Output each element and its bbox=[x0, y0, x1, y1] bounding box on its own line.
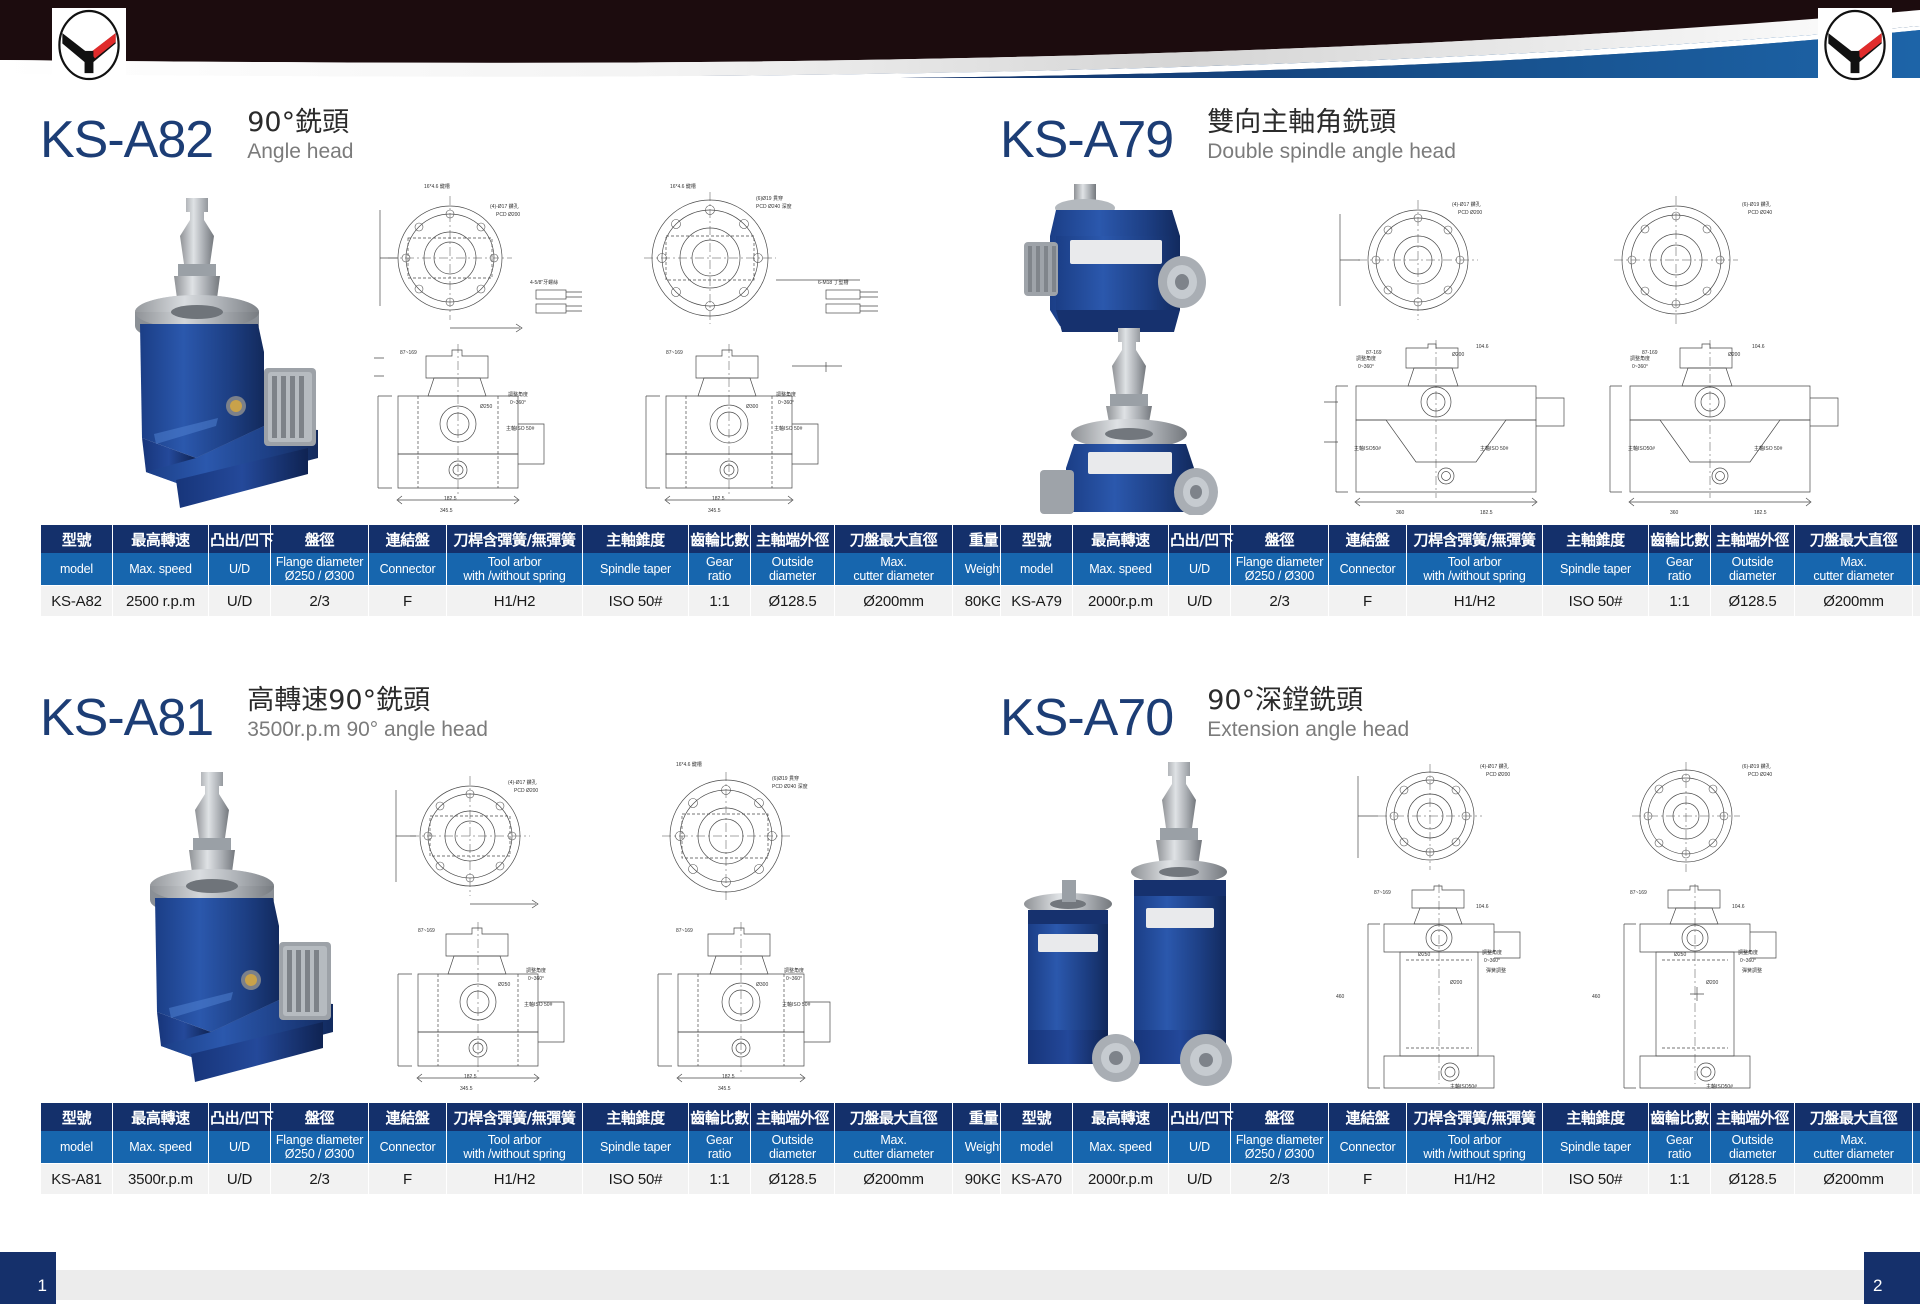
svg-text:104.6: 104.6 bbox=[1476, 344, 1489, 350]
cell-max-cutter-diameter: Ø200mm bbox=[835, 586, 953, 617]
svg-text:0~360°: 0~360° bbox=[778, 400, 794, 406]
table-header-row-cn: 型號 最高轉速 凸出/凹下 盤徑 連結盤 刀桿含彈簧/無彈簧 主軸錐度 齒輪比數… bbox=[41, 525, 1015, 553]
product-title-block: KS-A79 雙向主軸角銑頭 Double spindle angle head bbox=[1000, 92, 1905, 166]
svg-text:主軸ISO 50#: 主軸ISO 50# bbox=[506, 425, 535, 432]
svg-text:16*4.6 鍵槽: 16*4.6 鍵槽 bbox=[424, 183, 450, 190]
svg-text:調整角度: 調整角度 bbox=[508, 391, 528, 398]
th-cn-outside-diameter: 主軸端外徑 bbox=[1711, 525, 1795, 553]
th-cn-spindle-taper: 主軸錐度 bbox=[583, 1103, 689, 1131]
th-cn-tool-arbor: 刀桿含彈簧/無彈簧 bbox=[447, 525, 583, 553]
cell-flange-diameter: 2/3 bbox=[271, 1164, 369, 1195]
cell-max-speed: 3500r.p.m bbox=[113, 1164, 209, 1195]
th-en-flange-diameter: Flange diameterØ250 / Ø300 bbox=[1231, 1131, 1329, 1164]
page-title: KS-A82 bbox=[40, 114, 213, 166]
svg-text:(6)Ø19 貫穿: (6)Ø19 貫穿 bbox=[756, 195, 783, 202]
th-en-flange-diameter: Flange diameterØ250 / Ø300 bbox=[271, 1131, 369, 1164]
svg-text:104.6: 104.6 bbox=[1752, 344, 1765, 350]
th-cn-spindle-taper: 主軸錐度 bbox=[1543, 1103, 1649, 1131]
product-title-en: Extension angle head bbox=[1207, 718, 1409, 742]
svg-text:104.6: 104.6 bbox=[1476, 904, 1489, 910]
th-en-max-speed: Max. speed bbox=[113, 553, 209, 586]
th-en-weight: Weight bbox=[1913, 1131, 1920, 1164]
product-title-en: Angle head bbox=[247, 140, 353, 164]
cell-model: KS-A81 bbox=[41, 1164, 113, 1195]
product-title-en: Double spindle angle head bbox=[1207, 140, 1456, 164]
svg-text:16*4.6 鍵槽: 16*4.6 鍵槽 bbox=[670, 183, 696, 190]
th-cn-outside-diameter: 主軸端外徑 bbox=[751, 525, 835, 553]
th-cn-ud: 凸出/凹下 bbox=[209, 1103, 271, 1131]
svg-text:PCD Ø200: PCD Ø200 bbox=[1486, 772, 1510, 778]
th-en-spindle-taper: Spindle taper bbox=[583, 1131, 689, 1164]
table-header-row-en: model Max. speed U/D Flange diameterØ250… bbox=[41, 1131, 1015, 1164]
cell-gear-ratio: 1:1 bbox=[1649, 586, 1711, 617]
th-cn-flange-diameter: 盤徑 bbox=[271, 1103, 369, 1131]
th-en-ud: U/D bbox=[209, 1131, 271, 1164]
svg-text:主軸ISO50#: 主軸ISO50# bbox=[1706, 1083, 1733, 1090]
th-cn-connector: 連結盤 bbox=[369, 1103, 447, 1131]
cell-gear-ratio: 1:1 bbox=[1649, 1164, 1711, 1195]
technical-drawing-front-views: (4)-Ø17 鑽孔PCD Ø200 (6)-Ø19 鑽孔PCD Ø240 87… bbox=[1300, 758, 1900, 1093]
cell-spindle-taper: ISO 50# bbox=[1543, 586, 1649, 617]
svg-text:調整角度: 調整角度 bbox=[1482, 949, 1502, 956]
svg-text:0~360°: 0~360° bbox=[510, 400, 526, 406]
th-cn-outside-diameter: 主軸端外徑 bbox=[1711, 1103, 1795, 1131]
th-en-gear-ratio: Gearratio bbox=[1649, 553, 1711, 586]
th-cn-tool-arbor: 刀桿含彈簧/無彈簧 bbox=[447, 1103, 583, 1131]
th-en-outside-diameter: Outsidediameter bbox=[751, 553, 835, 586]
svg-text:調整角度: 調整角度 bbox=[1356, 355, 1376, 362]
svg-text:345.5: 345.5 bbox=[718, 1086, 731, 1092]
th-cn-model: 型號 bbox=[41, 1103, 113, 1131]
svg-text:PCD Ø240 深度: PCD Ø240 深度 bbox=[756, 203, 792, 210]
th-cn-max-cutter-diameter: 刀盤最大直徑 bbox=[1795, 1103, 1913, 1131]
svg-text:主軸ISO 50#: 主軸ISO 50# bbox=[524, 1001, 553, 1008]
svg-text:182.5: 182.5 bbox=[444, 496, 457, 502]
cell-connector: F bbox=[1329, 586, 1407, 617]
th-en-tool-arbor: Tool arborwith /without spring bbox=[1407, 1131, 1543, 1164]
th-cn-ud: 凸出/凹下 bbox=[1169, 525, 1231, 553]
spec-table-ks-a79: 型號 最高轉速 凸出/凹下 盤徑 連結盤 刀桿含彈簧/無彈簧 主軸錐度 齒輪比數… bbox=[1000, 525, 1920, 616]
technical-drawing-front-views: 16*4.6 鍵槽(4)-Ø17 鑽孔 PCD Ø2004-5/8"牙螺絲 16… bbox=[340, 180, 940, 515]
technical-drawing-front-views: (4)-Ø17 鑽孔PCD Ø200 (6)-Ø19 鑽孔PCD Ø240 87… bbox=[1300, 180, 1900, 515]
th-en-max-cutter-diameter: Max.cutter diameter bbox=[835, 1131, 953, 1164]
svg-text:Ø200: Ø200 bbox=[1452, 352, 1464, 358]
cell-max-speed: 2500 r.p.m bbox=[113, 586, 209, 617]
th-en-outside-diameter: Outsidediameter bbox=[1711, 553, 1795, 586]
svg-text:調整角度: 調整角度 bbox=[1738, 949, 1758, 956]
svg-text:PCD Ø200: PCD Ø200 bbox=[496, 212, 520, 218]
svg-text:4-5/8"牙螺絲: 4-5/8"牙螺絲 bbox=[530, 279, 558, 286]
th-cn-gear-ratio: 齒輪比數 bbox=[689, 1103, 751, 1131]
svg-text:(6)-Ø19 鑽孔: (6)-Ø19 鑽孔 bbox=[1742, 763, 1771, 770]
cell-max-speed: 2000r.p.m bbox=[1073, 1164, 1169, 1195]
th-en-gear-ratio: Gearratio bbox=[689, 553, 751, 586]
th-en-ud: U/D bbox=[1169, 553, 1231, 586]
th-en-connector: Connector bbox=[1329, 553, 1407, 586]
th-en-model: model bbox=[1001, 1131, 1073, 1164]
th-cn-ud: 凸出/凹下 bbox=[1169, 1103, 1231, 1131]
svg-text:(6)-Ø19 鑽孔: (6)-Ø19 鑽孔 bbox=[1742, 201, 1771, 208]
page-number-right-value: 2 bbox=[1873, 1276, 1882, 1296]
table-header-row-en: model Max. speed U/D Flange diameterØ250… bbox=[1001, 1131, 1920, 1164]
svg-text:182.5: 182.5 bbox=[1480, 510, 1493, 515]
product-photo bbox=[1010, 758, 1300, 1093]
th-cn-flange-diameter: 盤徑 bbox=[1231, 525, 1329, 553]
svg-text:彈簧調整: 彈簧調整 bbox=[1486, 967, 1506, 974]
th-en-model: model bbox=[1001, 553, 1073, 586]
spec-table-ks-a81: 型號 最高轉速 凸出/凹下 盤徑 連結盤 刀桿含彈簧/無彈簧 主軸錐度 齒輪比數… bbox=[40, 1103, 1015, 1194]
svg-text:345.5: 345.5 bbox=[440, 508, 453, 514]
th-cn-ud: 凸出/凹下 bbox=[209, 525, 271, 553]
th-cn-max-cutter-diameter: 刀盤最大直徑 bbox=[1795, 525, 1913, 553]
cell-outside-diameter: Ø128.5 bbox=[751, 586, 835, 617]
th-cn-gear-ratio: 齒輪比數 bbox=[1649, 525, 1711, 553]
svg-text:Ø200: Ø200 bbox=[1450, 980, 1462, 986]
page-number-left: 1 bbox=[0, 1252, 56, 1304]
cell-flange-diameter: 2/3 bbox=[271, 586, 369, 617]
cell-model: KS-A79 bbox=[1001, 586, 1073, 617]
table-row: KS-A79 2000r.p.m U/D 2/3 F H1/H2 ISO 50#… bbox=[1001, 586, 1920, 617]
svg-text:(4)-Ø17 鑽孔: (4)-Ø17 鑽孔 bbox=[1452, 201, 1481, 208]
svg-text:360: 360 bbox=[1670, 510, 1679, 515]
cell-spindle-taper: ISO 50# bbox=[1543, 1164, 1649, 1195]
cell-tool-arbor: H1/H2 bbox=[447, 586, 583, 617]
svg-text:Ø250: Ø250 bbox=[1418, 952, 1430, 958]
svg-text:87~169: 87~169 bbox=[666, 350, 683, 356]
th-en-max-speed: Max. speed bbox=[113, 1131, 209, 1164]
cell-outside-diameter: Ø128.5 bbox=[1711, 586, 1795, 617]
cell-ud: U/D bbox=[209, 586, 271, 617]
svg-text:360: 360 bbox=[1396, 510, 1405, 515]
cell-max-cutter-diameter: Ø200mm bbox=[1795, 1164, 1913, 1195]
cell-max-cutter-diameter: Ø200mm bbox=[1795, 586, 1913, 617]
table-header-row-en: model Max. speed U/D Flange diameterØ250… bbox=[1001, 553, 1920, 586]
product-title-en: 3500r.p.m 90° angle head bbox=[247, 718, 488, 742]
svg-text:(4)-Ø17 鑽孔: (4)-Ø17 鑽孔 bbox=[1480, 763, 1509, 770]
cell-gear-ratio: 1:1 bbox=[689, 586, 751, 617]
th-en-max-cutter-diameter: Max.cutter diameter bbox=[1795, 1131, 1913, 1164]
svg-text:調整角度: 調整角度 bbox=[526, 967, 546, 974]
table-row: KS-A81 3500r.p.m U/D 2/3 F H1/H2 ISO 50#… bbox=[41, 1164, 1015, 1195]
product-title-block: KS-A82 90°銑頭 Angle head bbox=[40, 92, 945, 166]
th-en-connector: Connector bbox=[369, 1131, 447, 1164]
svg-text:主軸ISO 50#: 主軸ISO 50# bbox=[782, 1001, 811, 1008]
cell-tool-arbor: H1/H2 bbox=[1407, 586, 1543, 617]
table-header-row-cn: 型號 最高轉速 凸出/凹下 盤徑 連結盤 刀桿含彈簧/無彈簧 主軸錐度 齒輪比數… bbox=[1001, 525, 1920, 553]
svg-text:(4)-Ø17 鑽孔: (4)-Ø17 鑽孔 bbox=[508, 779, 537, 786]
product-title-block: KS-A70 90°深鏜銑頭 Extension angle head bbox=[1000, 670, 1905, 744]
table-header-row-cn: 型號 最高轉速 凸出/凹下 盤徑 連結盤 刀桿含彈簧/無彈簧 主軸錐度 齒輪比數… bbox=[1001, 1103, 1920, 1131]
product-title-block: KS-A81 高轉速90°銑頭 3500r.p.m 90° angle head bbox=[40, 670, 945, 744]
company-logo-left bbox=[52, 8, 126, 82]
th-en-max-speed: Max. speed bbox=[1073, 1131, 1169, 1164]
cell-model: KS-A82 bbox=[41, 586, 113, 617]
th-cn-tool-arbor: 刀桿含彈簧/無彈簧 bbox=[1407, 1103, 1543, 1131]
company-logo-right bbox=[1818, 8, 1892, 82]
cell-outside-diameter: Ø128.5 bbox=[1711, 1164, 1795, 1195]
th-cn-weight: 重量 bbox=[1913, 525, 1920, 553]
spec-table-ks-a70: 型號 最高轉速 凸出/凹下 盤徑 連結盤 刀桿含彈簧/無彈簧 主軸錐度 齒輪比數… bbox=[1000, 1103, 1920, 1194]
svg-text:PCD Ø240: PCD Ø240 bbox=[1748, 772, 1772, 778]
product-title-cn: 90°深鏜銑頭 bbox=[1207, 686, 1409, 716]
page-title: KS-A81 bbox=[40, 692, 213, 744]
svg-text:主軸ISO 50#: 主軸ISO 50# bbox=[1480, 445, 1509, 452]
svg-text:460: 460 bbox=[1592, 994, 1601, 1000]
th-cn-gear-ratio: 齒輪比數 bbox=[689, 525, 751, 553]
th-cn-spindle-taper: 主軸錐度 bbox=[1543, 525, 1649, 553]
svg-text:87~169: 87~169 bbox=[1630, 890, 1647, 896]
th-en-max-cutter-diameter: Max.cutter diameter bbox=[1795, 553, 1913, 586]
svg-text:調整角度: 調整角度 bbox=[776, 391, 796, 398]
svg-text:345.5: 345.5 bbox=[460, 1086, 473, 1092]
svg-text:PCD Ø200: PCD Ø200 bbox=[1458, 210, 1482, 216]
th-en-spindle-taper: Spindle taper bbox=[1543, 1131, 1649, 1164]
svg-text:0~360°: 0~360° bbox=[1484, 958, 1500, 964]
th-cn-outside-diameter: 主軸端外徑 bbox=[751, 1103, 835, 1131]
th-cn-max-speed: 最高轉速 bbox=[1073, 525, 1169, 553]
product-panel-ks-a70: KS-A70 90°深鏜銑頭 Extension angle head bbox=[1000, 670, 1905, 1194]
cell-max-cutter-diameter: Ø200mm bbox=[835, 1164, 953, 1195]
footer-bar bbox=[0, 1270, 1920, 1300]
svg-text:182.5: 182.5 bbox=[1754, 510, 1767, 515]
cell-outside-diameter: Ø128.5 bbox=[751, 1164, 835, 1195]
th-cn-weight: 重量 bbox=[1913, 1103, 1920, 1131]
th-en-tool-arbor: Tool arborwith /without spring bbox=[447, 1131, 583, 1164]
svg-text:16*4.6 鍵槽: 16*4.6 鍵槽 bbox=[676, 761, 702, 768]
svg-text:0~360°: 0~360° bbox=[1632, 364, 1648, 370]
th-en-outside-diameter: Outsidediameter bbox=[751, 1131, 835, 1164]
th-en-tool-arbor: Tool arborwith /without spring bbox=[447, 553, 583, 586]
product-title-cn: 90°銑頭 bbox=[247, 108, 353, 138]
th-cn-model: 型號 bbox=[1001, 1103, 1073, 1131]
cell-spindle-taper: ISO 50# bbox=[583, 1164, 689, 1195]
th-cn-gear-ratio: 齒輪比數 bbox=[1649, 1103, 1711, 1131]
cell-max-speed: 2000r.p.m bbox=[1073, 586, 1169, 617]
svg-text:182.5: 182.5 bbox=[722, 1074, 735, 1080]
cell-flange-diameter: 2/3 bbox=[1231, 586, 1329, 617]
svg-text:460: 460 bbox=[1336, 994, 1345, 1000]
th-en-max-cutter-diameter: Max.cutter diameter bbox=[835, 553, 953, 586]
th-en-max-speed: Max. speed bbox=[1073, 553, 1169, 586]
svg-text:182.5: 182.5 bbox=[712, 496, 725, 502]
page-footer: 1 2 bbox=[0, 1252, 1920, 1311]
table-header-row-cn: 型號 最高轉速 凸出/凹下 盤徑 連結盤 刀桿含彈簧/無彈簧 主軸錐度 齒輪比數… bbox=[41, 1103, 1015, 1131]
svg-text:彈簧調整: 彈簧調整 bbox=[1742, 967, 1762, 974]
page-number-left-value: 1 bbox=[38, 1276, 47, 1296]
th-en-flange-diameter: Flange diameterØ250 / Ø300 bbox=[271, 553, 369, 586]
th-cn-max-speed: 最高轉速 bbox=[1073, 1103, 1169, 1131]
th-en-flange-diameter: Flange diameterØ250 / Ø300 bbox=[1231, 553, 1329, 586]
page-number-right: 2 bbox=[1864, 1252, 1920, 1304]
th-en-ud: U/D bbox=[209, 553, 271, 586]
svg-text:PCD Ø200: PCD Ø200 bbox=[514, 788, 538, 794]
svg-text:調整角度: 調整角度 bbox=[1630, 355, 1650, 362]
product-title-cn: 高轉速90°銑頭 bbox=[247, 686, 488, 716]
svg-text:87~169: 87~169 bbox=[676, 928, 693, 934]
svg-text:PCD Ø240 深度: PCD Ø240 深度 bbox=[772, 783, 808, 790]
product-artwork-ks-a82: 16*4.6 鍵槽(4)-Ø17 鑽孔 PCD Ø2004-5/8"牙螺絲 16… bbox=[40, 180, 945, 515]
product-photo bbox=[95, 766, 355, 1096]
svg-text:87~169: 87~169 bbox=[418, 928, 435, 934]
th-cn-max-speed: 最高轉速 bbox=[113, 525, 209, 553]
svg-text:PCD Ø240: PCD Ø240 bbox=[1748, 210, 1772, 216]
cell-connector: F bbox=[1329, 1164, 1407, 1195]
th-cn-max-cutter-diameter: 刀盤最大直徑 bbox=[835, 1103, 953, 1131]
cell-weight: 105KG bbox=[1913, 1164, 1920, 1195]
th-cn-connector: 連結盤 bbox=[1329, 525, 1407, 553]
svg-text:主軸ISO50#: 主軸ISO50# bbox=[1450, 1083, 1477, 1090]
table-row: KS-A82 2500 r.p.m U/D 2/3 F H1/H2 ISO 50… bbox=[41, 586, 1015, 617]
cell-flange-diameter: 2/3 bbox=[1231, 1164, 1329, 1195]
th-en-weight: Weight bbox=[1913, 553, 1920, 586]
svg-text:Ø250: Ø250 bbox=[1674, 952, 1686, 958]
cell-model: KS-A70 bbox=[1001, 1164, 1073, 1195]
th-cn-max-cutter-diameter: 刀盤最大直徑 bbox=[835, 525, 953, 553]
svg-text:主軸ISO 50#: 主軸ISO 50# bbox=[774, 425, 803, 432]
th-cn-model: 型號 bbox=[1001, 525, 1073, 553]
svg-text:Ø250: Ø250 bbox=[480, 404, 492, 410]
product-panel-ks-a81: KS-A81 高轉速90°銑頭 3500r.p.m 90° angle head bbox=[40, 670, 945, 1194]
th-cn-flange-diameter: 盤徑 bbox=[271, 525, 369, 553]
th-en-connector: Connector bbox=[369, 553, 447, 586]
cell-spindle-taper: ISO 50# bbox=[583, 586, 689, 617]
th-cn-tool-arbor: 刀桿含彈簧/無彈簧 bbox=[1407, 525, 1543, 553]
cell-tool-arbor: H1/H2 bbox=[447, 1164, 583, 1195]
svg-text:主軸ISO50#: 主軸ISO50# bbox=[1354, 445, 1381, 452]
cell-connector: F bbox=[369, 1164, 447, 1195]
th-en-outside-diameter: Outsidediameter bbox=[1711, 1131, 1795, 1164]
th-en-connector: Connector bbox=[1329, 1131, 1407, 1164]
cell-weight: 100KG bbox=[1913, 586, 1920, 617]
cell-gear-ratio: 1:1 bbox=[689, 1164, 751, 1195]
svg-text:Ø200: Ø200 bbox=[1728, 352, 1740, 358]
product-artwork-ks-a81: (4)-Ø17 鑽孔PCD Ø200 16*4.6 鍵槽(6)Ø19 貫穿 PC… bbox=[40, 758, 945, 1093]
cell-connector: F bbox=[369, 586, 447, 617]
page-header-banner bbox=[0, 0, 1920, 92]
technical-drawing-front-views: (4)-Ø17 鑽孔PCD Ø200 16*4.6 鍵槽(6)Ø19 貫穿 PC… bbox=[360, 758, 940, 1093]
th-en-ud: U/D bbox=[1169, 1131, 1231, 1164]
th-en-model: model bbox=[41, 553, 113, 586]
page-title: KS-A79 bbox=[1000, 114, 1173, 166]
th-cn-connector: 連結盤 bbox=[369, 525, 447, 553]
svg-text:87~169: 87~169 bbox=[400, 350, 417, 356]
catalog-sheet: KS-A82 90°銑頭 Angle head bbox=[0, 92, 1920, 1252]
svg-text:(6)Ø19 貫穿: (6)Ø19 貫穿 bbox=[772, 775, 799, 782]
svg-text:0~360°: 0~360° bbox=[1358, 364, 1374, 370]
cell-tool-arbor: H1/H2 bbox=[1407, 1164, 1543, 1195]
svg-text:104.6: 104.6 bbox=[1732, 904, 1745, 910]
th-cn-flange-diameter: 盤徑 bbox=[1231, 1103, 1329, 1131]
th-en-gear-ratio: Gearratio bbox=[1649, 1131, 1711, 1164]
svg-text:6-M18 丁型槽: 6-M18 丁型槽 bbox=[818, 279, 849, 286]
svg-text:調整角度: 調整角度 bbox=[784, 967, 804, 974]
table-header-row-en: model Max. speed U/D Flange diameterØ250… bbox=[41, 553, 1015, 586]
svg-text:Ø300: Ø300 bbox=[746, 404, 758, 410]
th-en-model: model bbox=[41, 1131, 113, 1164]
product-panel-ks-a79: KS-A79 雙向主軸角銑頭 Double spindle angle head bbox=[1000, 92, 1905, 616]
th-en-tool-arbor: Tool arborwith /without spring bbox=[1407, 553, 1543, 586]
svg-text:345.5: 345.5 bbox=[708, 508, 721, 514]
product-photo bbox=[68, 190, 338, 520]
th-cn-max-speed: 最高轉速 bbox=[113, 1103, 209, 1131]
svg-text:(4)-Ø17 鑽孔: (4)-Ø17 鑽孔 bbox=[490, 203, 519, 210]
cell-ud: U/D bbox=[1169, 586, 1231, 617]
th-cn-connector: 連結盤 bbox=[1329, 1103, 1407, 1131]
product-artwork-ks-a70: (4)-Ø17 鑽孔PCD Ø200 (6)-Ø19 鑽孔PCD Ø240 87… bbox=[1000, 758, 1905, 1093]
svg-text:0~360°: 0~360° bbox=[786, 976, 802, 982]
th-en-gear-ratio: Gearratio bbox=[689, 1131, 751, 1164]
product-panel-ks-a82: KS-A82 90°銑頭 Angle head bbox=[40, 92, 945, 616]
svg-text:0~360°: 0~360° bbox=[1740, 958, 1756, 964]
page-title: KS-A70 bbox=[1000, 692, 1173, 744]
svg-text:Ø200: Ø200 bbox=[1706, 980, 1718, 986]
svg-text:主軸ISO50#: 主軸ISO50# bbox=[1628, 445, 1655, 452]
cell-ud: U/D bbox=[209, 1164, 271, 1195]
svg-text:87~169: 87~169 bbox=[1374, 890, 1391, 896]
cell-ud: U/D bbox=[1169, 1164, 1231, 1195]
product-photo bbox=[1010, 180, 1300, 515]
th-cn-spindle-taper: 主軸錐度 bbox=[583, 525, 689, 553]
spec-table-ks-a82: 型號 最高轉速 凸出/凹下 盤徑 連結盤 刀桿含彈簧/無彈簧 主軸錐度 齒輪比數… bbox=[40, 525, 1015, 616]
th-en-spindle-taper: Spindle taper bbox=[583, 553, 689, 586]
svg-text:Ø250: Ø250 bbox=[498, 982, 510, 988]
svg-text:0~360°: 0~360° bbox=[528, 976, 544, 982]
svg-text:Ø300: Ø300 bbox=[756, 982, 768, 988]
th-en-spindle-taper: Spindle taper bbox=[1543, 553, 1649, 586]
product-artwork-ks-a79: (4)-Ø17 鑽孔PCD Ø200 (6)-Ø19 鑽孔PCD Ø240 87… bbox=[1000, 180, 1905, 515]
th-cn-model: 型號 bbox=[41, 525, 113, 553]
product-title-cn: 雙向主軸角銑頭 bbox=[1207, 108, 1456, 138]
svg-text:主軸ISO 50#: 主軸ISO 50# bbox=[1754, 445, 1783, 452]
table-row: KS-A70 2000r.p.m U/D 2/3 F H1/H2 ISO 50#… bbox=[1001, 1164, 1920, 1195]
svg-text:182.5: 182.5 bbox=[464, 1074, 477, 1080]
